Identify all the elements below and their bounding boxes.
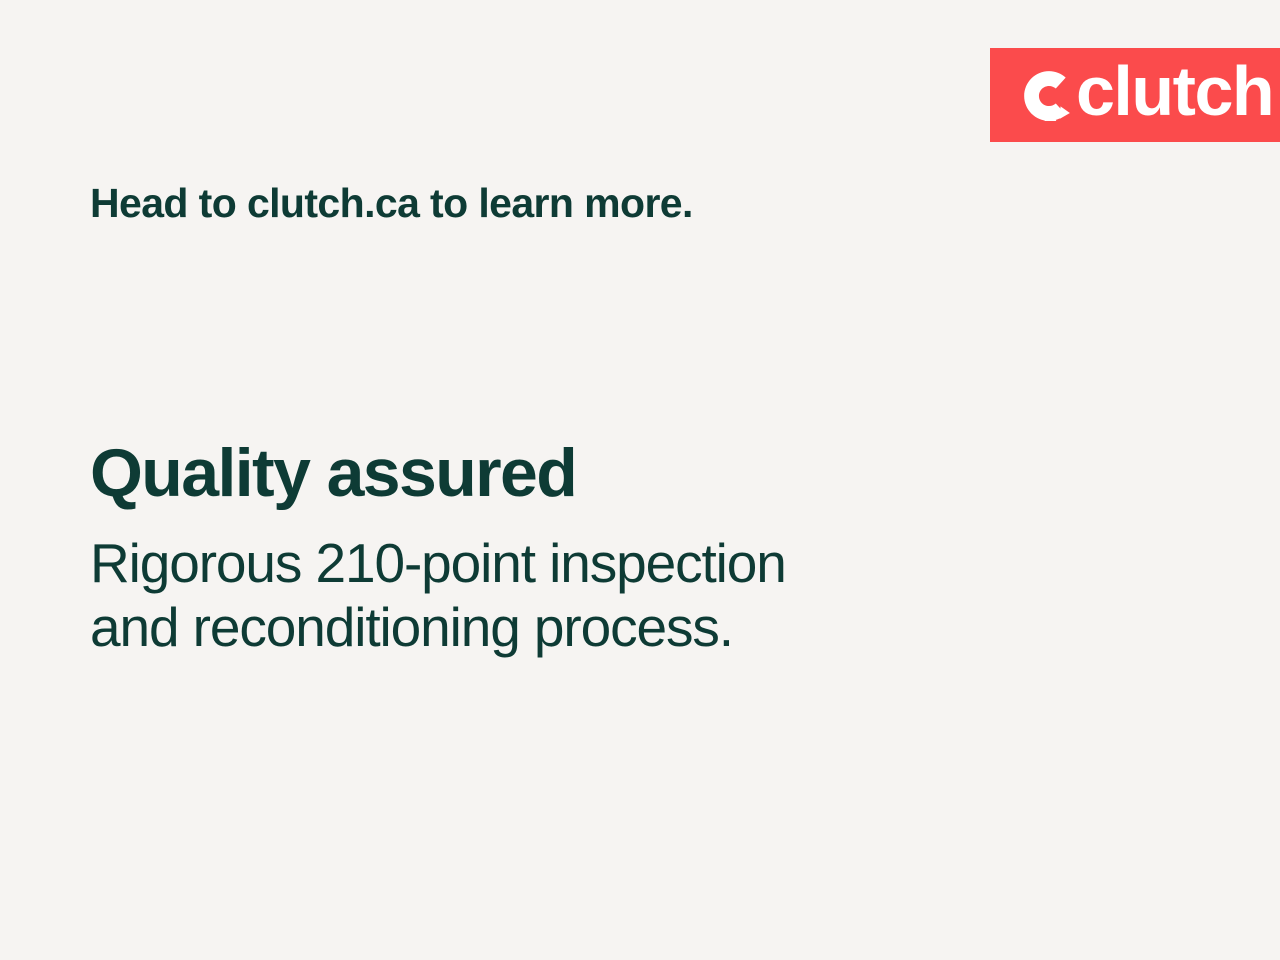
subcopy-line-1: Rigorous 210-point inspection — [90, 532, 1070, 596]
clutch-logo-lockup: clutch — [1022, 48, 1273, 142]
subcopy-text: Rigorous 210-point inspection and recond… — [90, 532, 1070, 660]
subcopy-line-2: and reconditioning process. — [90, 596, 1070, 660]
headline-group: Quality assured Rigorous 210-point inspe… — [90, 437, 1070, 660]
headline-text: Quality assured — [90, 437, 1070, 510]
clutch-logo-block[interactable]: clutch — [990, 48, 1280, 142]
clutch-wordmark: clutch — [1076, 56, 1273, 126]
clutch-c-monogram-icon — [1022, 69, 1076, 123]
tagline-text: Head to clutch.ca to learn more. — [90, 180, 693, 227]
promo-slide: clutch Head to clutch.ca to learn more. … — [0, 0, 1280, 960]
